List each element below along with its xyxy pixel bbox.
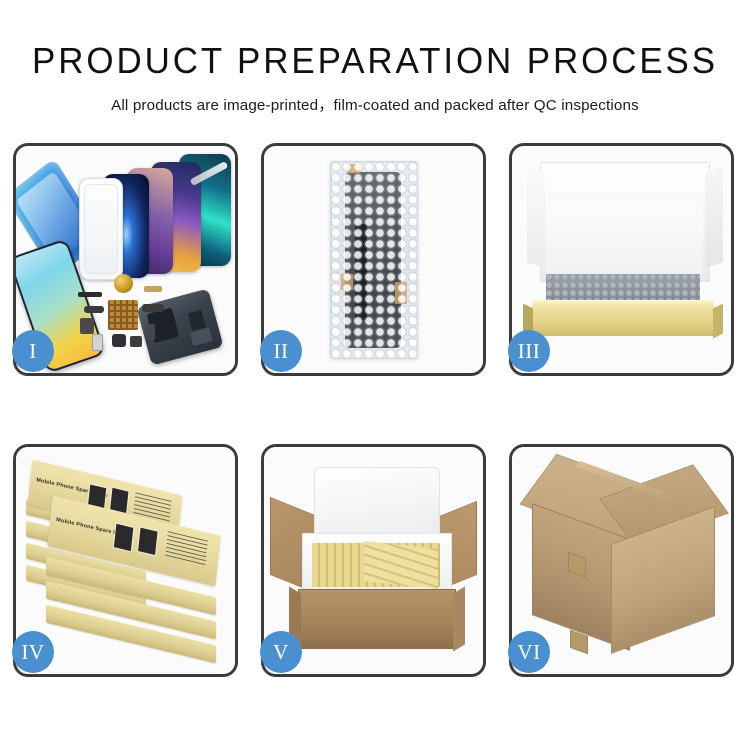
camera-module-part: [112, 334, 126, 347]
bubble-texture-overlay: [331, 162, 417, 358]
earpiece-speaker-part: [78, 292, 102, 297]
loudspeaker-part: [130, 336, 142, 347]
step-badge-2: II: [260, 330, 302, 372]
retail-box-stack: Mobile Phone Spare Parts Mobile Phone Sp…: [24, 469, 232, 661]
box-spec-lines: [165, 531, 208, 568]
box-phone-thumbnail: [137, 526, 159, 556]
process-step-panel-2[interactable]: II: [261, 143, 486, 376]
page-subtitle: All products are image-printed，film-coat…: [0, 82, 750, 115]
bubble-wrap-bag: [330, 161, 418, 359]
packed-retail-boxes-secondary: [364, 541, 438, 589]
process-step-panel-1[interactable]: I: [13, 143, 238, 376]
sim-tray-part: [92, 334, 103, 351]
gold-contact-part: [144, 286, 162, 292]
phone-screen-glass-white: [79, 178, 123, 280]
process-step-panel-4[interactable]: Mobile Phone Spare Parts Mobile Phone Sp…: [13, 444, 238, 677]
screw-grid-part: [108, 300, 138, 330]
step-badge-1: I: [12, 330, 54, 372]
process-step-panel-6[interactable]: VI: [509, 444, 734, 677]
battery-connector-part: [146, 324, 155, 340]
process-step-grid: I II III: [13, 143, 735, 677]
kraft-box-front: [532, 306, 714, 336]
box-phone-thumbnail: [113, 523, 135, 553]
connector-part: [80, 318, 94, 334]
page-header: PRODUCT PREPARATION PROCESS All products…: [0, 0, 750, 115]
process-step-panel-5[interactable]: V: [261, 444, 486, 677]
step-badge-3: III: [508, 330, 550, 372]
step-badge-5: V: [260, 631, 302, 673]
carton-front-panel: [298, 589, 456, 649]
step-badge-4: IV: [12, 631, 54, 673]
vibration-motor-part: [114, 274, 133, 293]
flex-cable-left-part: [84, 306, 104, 313]
process-step-panel-3[interactable]: III: [509, 143, 734, 376]
spare-parts-cluster: [72, 272, 184, 364]
page-title: PRODUCT PREPARATION PROCESS: [11, 0, 739, 82]
flex-cable-right-part: [142, 304, 164, 312]
step-badge-6: VI: [508, 631, 550, 673]
foam-sheet: [546, 204, 702, 276]
